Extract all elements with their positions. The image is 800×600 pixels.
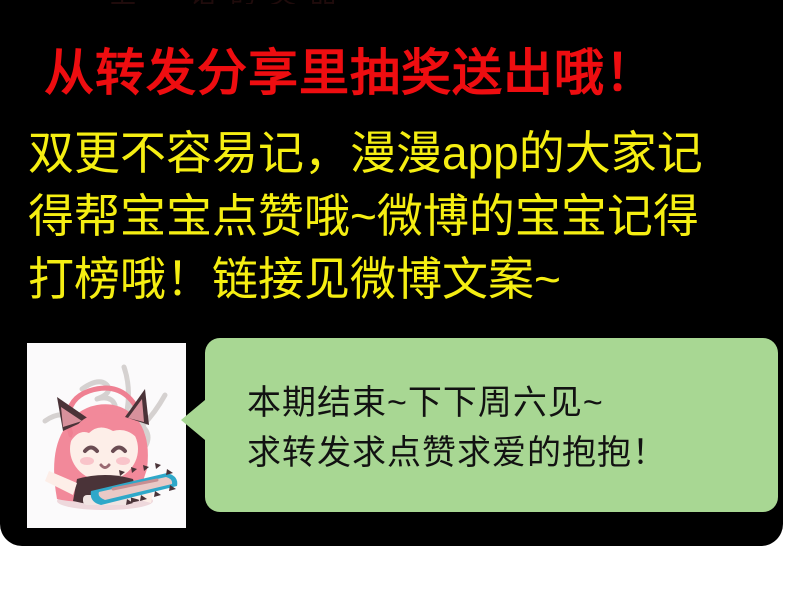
bubble-line-2: 求转发求点赞求爱的抱抱！ [247,428,767,478]
comic-panel: 上一话的奖品 从转发分享里抽奖送出哦！ 双更不容易记，漫漫app的大家记 得帮宝… [0,0,783,546]
body-line-2: 得帮宝宝点赞哦~微博的宝宝记得 [28,185,776,248]
blush-right [116,457,130,465]
headline-text: 从转发分享里抽奖送出哦！ [44,42,774,104]
clipped-top-text: 上一话的奖品 [110,0,670,4]
avatar [27,343,186,528]
bubble-line-1: 本期结束~下下周六见~ [247,378,767,428]
comic-page: 上一话的奖品 从转发分享里抽奖送出哦！ 双更不容易记，漫漫app的大家记 得帮宝… [0,0,800,600]
chibi-character-illustration [27,343,186,528]
body-line-1: 双更不容易记，漫漫app的大家记 [28,122,776,185]
body-line-3: 打榜哦！链接见微博文案~ [28,248,776,311]
speech-bubble-tail [181,400,205,440]
speech-bubble-text: 本期结束~下下周六见~ 求转发求点赞求爱的抱抱！ [247,378,767,478]
speech-bubble: 本期结束~下下周六见~ 求转发求点赞求爱的抱抱！ [205,338,778,512]
body-copy: 双更不容易记，漫漫app的大家记 得帮宝宝点赞哦~微博的宝宝记得 打榜哦！链接见… [28,122,776,311]
blush-left [80,457,94,465]
